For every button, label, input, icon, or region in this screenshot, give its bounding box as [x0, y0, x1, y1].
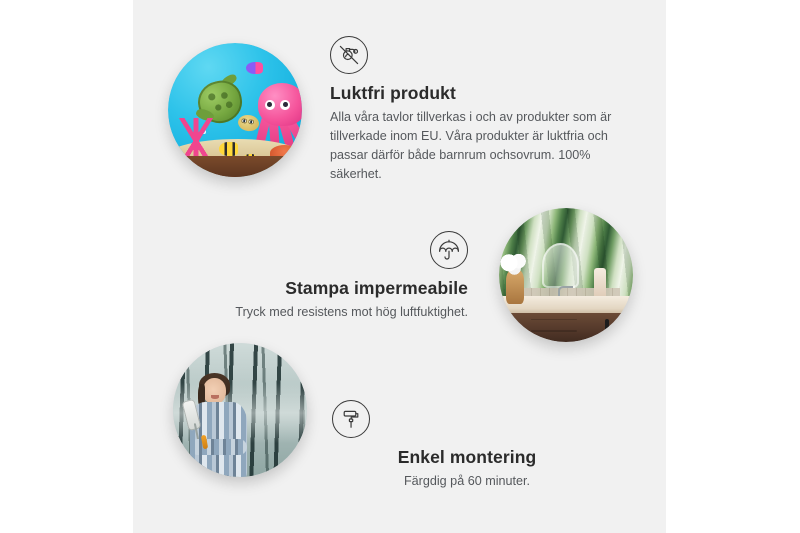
- screenshot-canvas: Luktfri produkt Alla våra tavlor tillver…: [0, 0, 800, 533]
- fish-icon: [246, 62, 263, 74]
- feature-easy-body: Färgdig på 60 minuter.: [322, 472, 612, 491]
- woman-smile: [211, 395, 219, 399]
- vanity-drawer: [531, 319, 577, 320]
- feature-odorless-title: Luktfri produkt: [330, 83, 626, 104]
- product-photo-sea[interactable]: [168, 43, 302, 177]
- product-photo-bathroom[interactable]: [499, 208, 633, 342]
- feature-waterproof-body: Tryck med resistens mot hög luftfuktighe…: [206, 303, 468, 322]
- white-flowers: [500, 252, 529, 276]
- woman-crossed-arms: [190, 439, 247, 455]
- sea-floor: [168, 156, 302, 177]
- vanity-drawer: [531, 330, 577, 331]
- photo-bathroom-inner: [499, 208, 633, 342]
- photo-painter-inner: [173, 343, 307, 477]
- feature-waterproof: Stampa impermeabile Tryck med resistens …: [206, 231, 468, 322]
- fish-icon: [219, 142, 238, 155]
- feature-waterproof-title: Stampa impermeabile: [206, 278, 468, 299]
- octopus-eye: [265, 100, 275, 110]
- feature-waterproof-icon-wrap: [206, 231, 468, 269]
- paint-roller-icon: [332, 400, 370, 438]
- photo-sea-inner: [168, 43, 302, 177]
- octopus-eye: [280, 100, 290, 110]
- feature-odorless-body: Alla våra tavlor tillverkas i och av pro…: [330, 108, 626, 185]
- product-photo-painter[interactable]: [173, 343, 307, 477]
- feature-odorless: Luktfri produkt Alla våra tavlor tillver…: [330, 36, 626, 185]
- feature-easy-title: Enkel montering: [322, 447, 612, 468]
- turtle-eye: [241, 117, 247, 123]
- feature-easy-install: Enkel montering Färgdig på 60 minuter.: [322, 400, 612, 491]
- feature-easy-icon-wrap: [322, 400, 612, 438]
- vanity-handle: [605, 319, 609, 333]
- bathroom-mirror: [542, 243, 580, 289]
- octopus-head: [258, 83, 302, 126]
- umbrella-icon: [430, 231, 468, 269]
- feature-odorless-icon-wrap: [330, 36, 626, 74]
- no-fragrance-spray-icon: [330, 36, 368, 74]
- wooden-vanity-cabinet: [499, 313, 633, 342]
- woman-painter: [184, 378, 259, 477]
- woman-head: [203, 378, 226, 404]
